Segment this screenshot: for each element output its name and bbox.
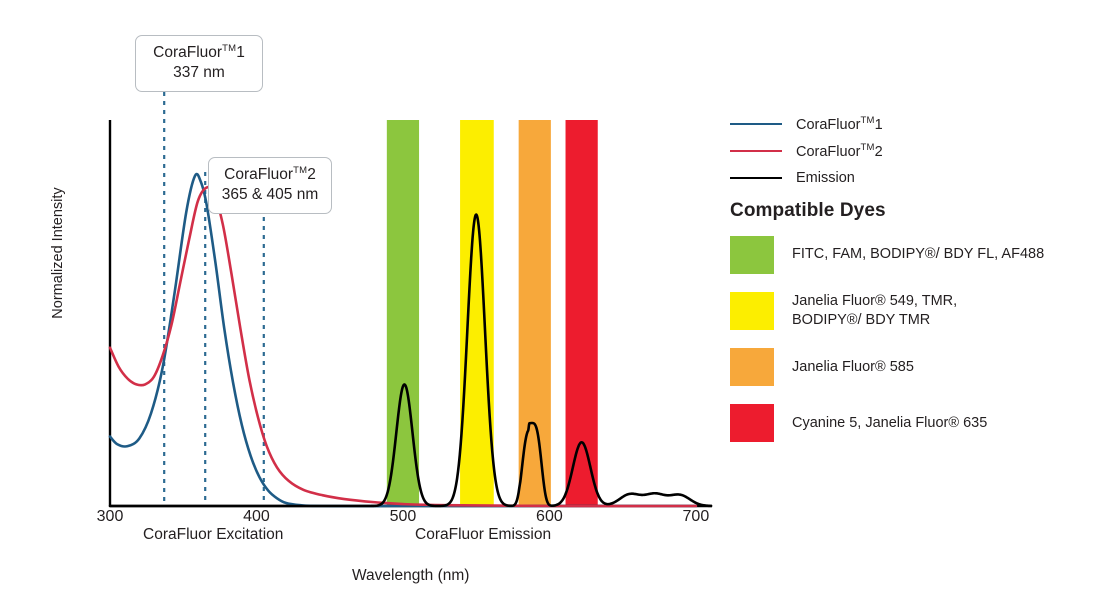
callout-corafluor2-name: CoraFluor xyxy=(224,166,293,183)
callout-corafluor1-title: CoraFluorTM1 xyxy=(148,43,250,63)
legend-line-swatch xyxy=(730,123,782,125)
callout-corafluor1: CoraFluorTM1 337 nm xyxy=(135,35,263,92)
compatible-dyes-title: Compatible Dyes xyxy=(730,200,886,222)
dye-label-line: Cyanine 5, Janelia Fluor® 635 xyxy=(792,414,987,433)
dye-color-swatch xyxy=(730,292,774,330)
trademark-mark: TM xyxy=(860,115,874,126)
legend-item-label: Emission xyxy=(796,170,855,186)
legend-line-swatch xyxy=(730,177,782,179)
dye-row-2: Janelia Fluor® 549, TMR,BODIPY®/ BDY TMR xyxy=(730,292,1100,330)
y-axis-label: Normalized Intensity xyxy=(50,173,66,333)
x-tick-700: 700 xyxy=(666,508,726,526)
callout-corafluor2: CoraFluorTM2 365 & 405 nm xyxy=(208,157,332,214)
callout-corafluor2-title: CoraFluorTM2 xyxy=(221,165,319,185)
callout-corafluor1-suffix: 1 xyxy=(236,44,245,61)
dye-label: Cyanine 5, Janelia Fluor® 635 xyxy=(792,414,987,433)
dye-label-line: Janelia Fluor® 549, TMR, xyxy=(792,292,957,311)
dye-color-swatch xyxy=(730,348,774,386)
dye-label-line: FITC, FAM, BODIPY®/ BDY FL, AF488 xyxy=(792,245,1044,264)
emission-band-4 xyxy=(566,120,598,506)
callout-corafluor2-wavelength: 365 & 405 nm xyxy=(221,185,319,205)
legend-item-label: CoraFluorTM1 xyxy=(796,115,883,133)
dye-label: Janelia Fluor® 549, TMR,BODIPY®/ BDY TMR xyxy=(792,292,957,330)
dye-row-1: FITC, FAM, BODIPY®/ BDY FL, AF488 xyxy=(730,236,1100,274)
x-tick-400: 400 xyxy=(226,508,286,526)
dye-label: Janelia Fluor® 585 xyxy=(792,358,914,377)
trademark-mark: TM xyxy=(860,142,874,153)
x-tick-600: 600 xyxy=(519,508,579,526)
trademark-mark: TM xyxy=(222,43,236,54)
x-axis-section-emission: CoraFluor Emission xyxy=(415,526,551,544)
legend-item-3: Emission xyxy=(730,164,1090,191)
callout-corafluor1-name: CoraFluor xyxy=(153,44,222,61)
callout-corafluor2-suffix: 2 xyxy=(307,166,316,183)
dye-row-3: Janelia Fluor® 585 xyxy=(730,348,1100,386)
legend-line-swatch xyxy=(730,150,782,152)
x-tick-500: 500 xyxy=(373,508,433,526)
x-axis-section-excitation: CoraFluor Excitation xyxy=(143,526,283,544)
trademark-mark: TM xyxy=(293,165,307,176)
legend-item-label: CoraFluorTM2 xyxy=(796,142,883,160)
legend-item-1: CoraFluorTM1 xyxy=(730,110,1090,137)
dye-label-line: Janelia Fluor® 585 xyxy=(792,358,914,377)
dye-color-swatch xyxy=(730,236,774,274)
x-axis-label: Wavelength (nm) xyxy=(352,567,469,585)
series-legend: CoraFluorTM1CoraFluorTM2Emission xyxy=(730,110,1090,191)
fluorescence-spectra-figure: CoraFluorTM1 337 nm CoraFluorTM2 365 & 4… xyxy=(0,0,1110,612)
legend-label-base: CoraFluor xyxy=(796,116,860,132)
legend-label-suffix: 1 xyxy=(875,116,883,132)
callout-corafluor1-wavelength: 337 nm xyxy=(148,63,250,83)
dye-label: FITC, FAM, BODIPY®/ BDY FL, AF488 xyxy=(792,245,1044,264)
x-tick-300: 300 xyxy=(80,508,140,526)
compatible-dyes-list: FITC, FAM, BODIPY®/ BDY FL, AF488Janelia… xyxy=(730,236,1100,460)
legend-label-base: CoraFluor xyxy=(796,143,860,159)
legend-item-2: CoraFluorTM2 xyxy=(730,137,1090,164)
dye-row-4: Cyanine 5, Janelia Fluor® 635 xyxy=(730,404,1100,442)
dye-label-line: BODIPY®/ BDY TMR xyxy=(792,311,957,330)
legend-label-base: Emission xyxy=(796,170,855,186)
dye-color-swatch xyxy=(730,404,774,442)
emission-band-2 xyxy=(460,120,494,506)
legend-label-suffix: 2 xyxy=(875,143,883,159)
